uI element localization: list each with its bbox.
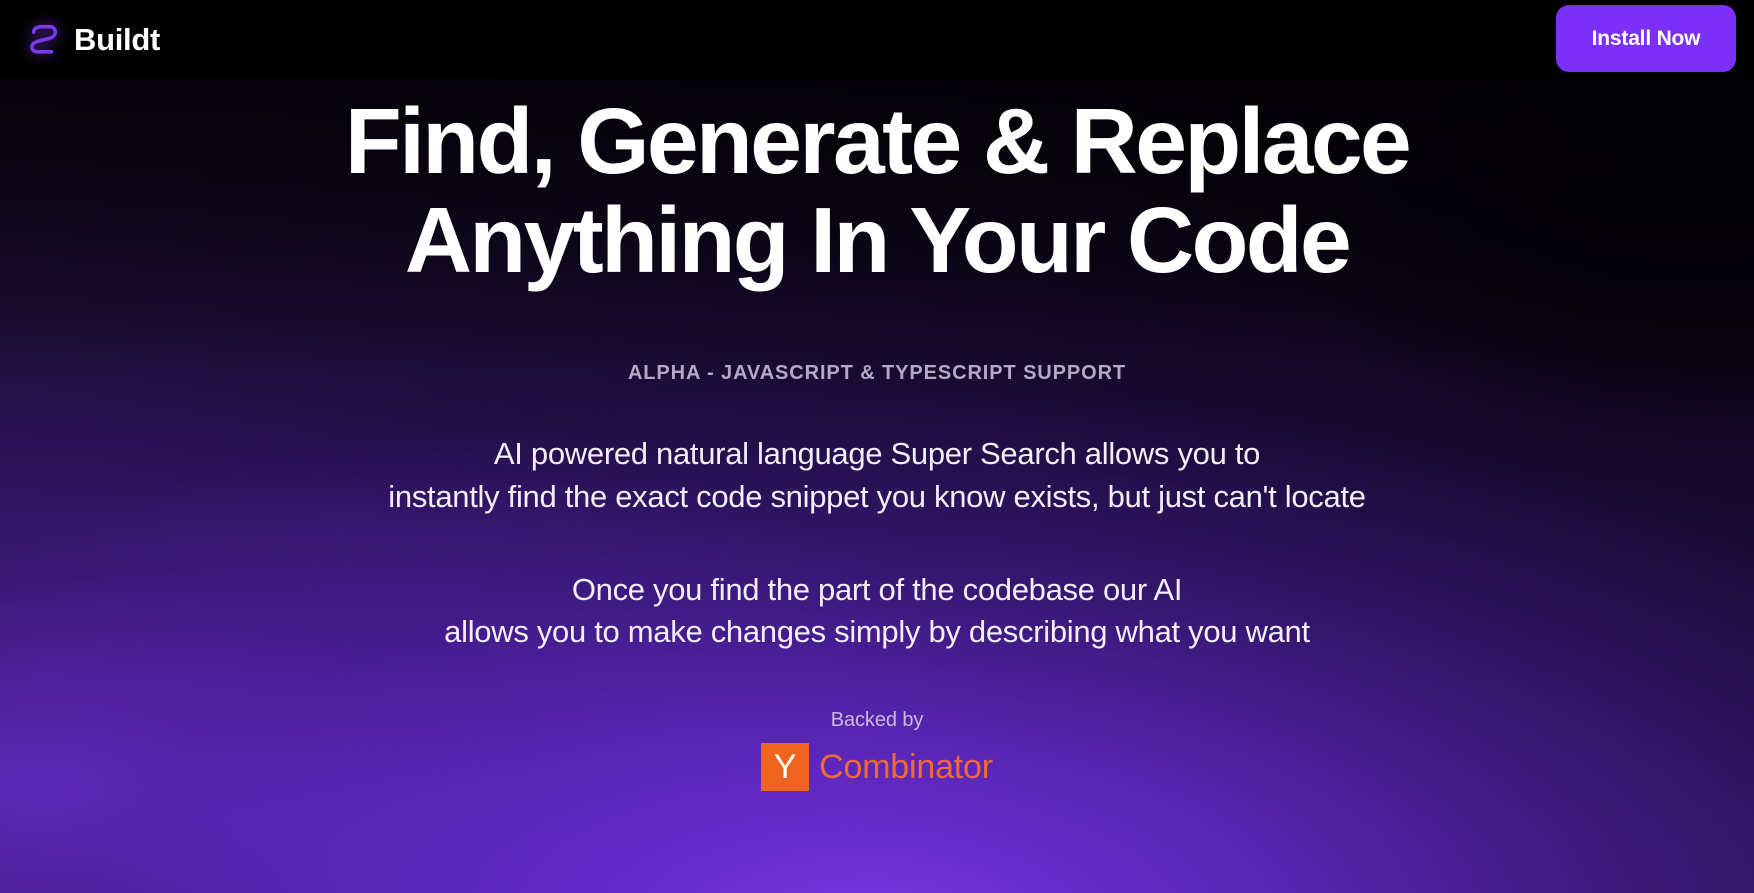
headline-line-1: Find, Generate & Replace xyxy=(227,95,1527,188)
hero-paragraph-1-line-2: instantly find the exact code snippet yo… xyxy=(0,476,1754,519)
alpha-support-label: ALPHA - JAVASCRIPT & TYPESCRIPT SUPPORT xyxy=(0,362,1754,385)
hero-paragraph-2-line-2: allows you to make changes simply by des… xyxy=(0,611,1754,654)
landing-page: Buildt Install Now Find, Generate & Repl… xyxy=(0,0,1754,893)
install-now-button[interactable]: Install Now xyxy=(1556,5,1736,72)
buildt-logo-icon xyxy=(26,22,60,56)
brand-name: Buildt xyxy=(74,24,160,55)
y-combinator-logo: Y Combinator xyxy=(761,743,993,791)
brand-logo-group[interactable]: Buildt xyxy=(26,12,160,66)
hero-paragraph-2-line-1: Once you find the part of the codebase o… xyxy=(0,569,1754,612)
headline-line-2: Anything In Your Code xyxy=(227,194,1527,287)
site-header: Buildt Install Now xyxy=(0,0,1754,78)
y-combinator-mark-icon: Y xyxy=(761,743,809,791)
hero-paragraph-2: Once you find the part of the codebase o… xyxy=(0,569,1754,655)
hero-paragraph-1: AI powered natural language Super Search… xyxy=(0,433,1754,519)
page-title: Find, Generate & Replace Anything In You… xyxy=(227,78,1527,287)
hero-section: Find, Generate & Replace Anything In You… xyxy=(0,78,1754,893)
hero-paragraph-1-line-1: AI powered natural language Super Search… xyxy=(0,433,1754,476)
y-combinator-wordmark: Combinator xyxy=(819,750,993,784)
backed-by-label: Backed by xyxy=(0,709,1754,732)
